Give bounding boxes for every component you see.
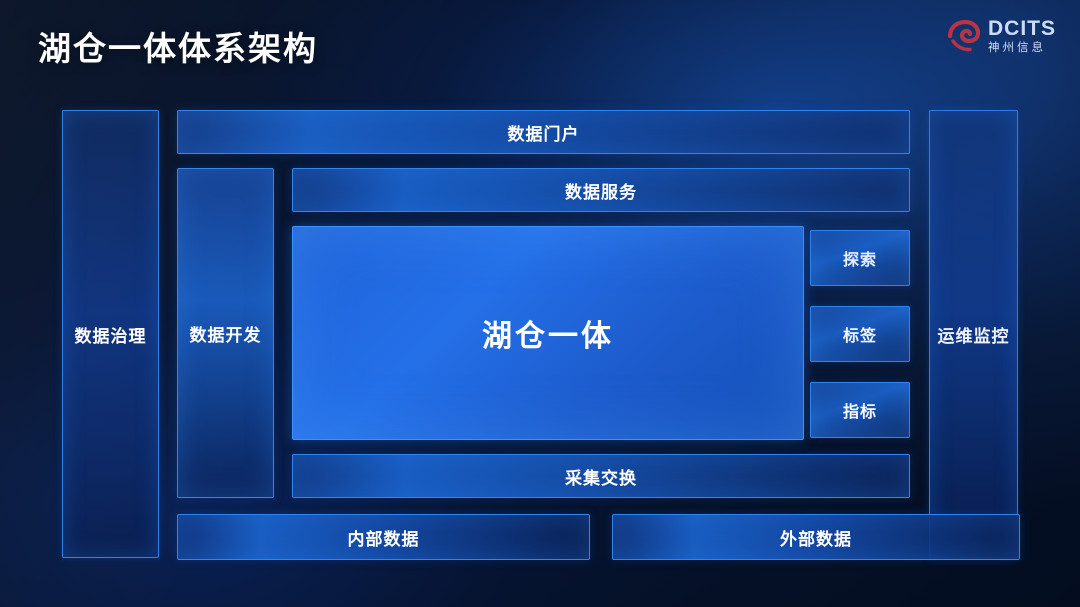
block-data-development[interactable]: 数据开发 [177, 168, 274, 498]
slide-canvas: 湖仓一体体系架构 DCITS 神州信息 数据治理 运维监控 数据门户 数据开发 … [0, 0, 1080, 607]
page-title: 湖仓一体体系架构 [38, 22, 318, 70]
block-internal-data[interactable]: 内部数据 [177, 514, 590, 560]
brand-logo: DCITS 神州信息 [947, 18, 1056, 55]
block-data-portal[interactable]: 数据门户 [177, 110, 910, 154]
block-data-governance[interactable]: 数据治理 [62, 110, 159, 558]
block-external-data[interactable]: 外部数据 [612, 514, 1020, 560]
block-data-service[interactable]: 数据服务 [292, 168, 910, 212]
block-data-service-label: 数据服务 [565, 178, 637, 203]
block-collect-exchange-label: 采集交换 [565, 464, 637, 489]
block-chip-explore[interactable]: 探索 [810, 230, 910, 286]
block-data-development-label: 数据开发 [190, 321, 262, 346]
block-ops-monitoring[interactable]: 运维监控 [929, 110, 1018, 558]
block-external-data-label: 外部数据 [780, 525, 852, 550]
block-data-governance-label: 数据治理 [75, 322, 147, 347]
block-chip-metric-label: 指标 [843, 398, 877, 422]
block-data-portal-label: 数据门户 [508, 120, 580, 145]
logo-cn-text: 神州信息 [988, 43, 1046, 55]
block-collect-exchange[interactable]: 采集交换 [292, 454, 910, 498]
block-chip-tag-label: 标签 [843, 322, 877, 346]
block-ops-monitoring-label: 运维监控 [938, 322, 1010, 347]
block-chip-metric[interactable]: 指标 [810, 382, 910, 438]
logo-en-text: DCITS [988, 18, 1056, 39]
block-lakehouse-label: 湖仓一体 [482, 311, 614, 355]
block-internal-data-label: 内部数据 [348, 525, 420, 550]
block-chip-explore-label: 探索 [843, 246, 877, 270]
block-lakehouse[interactable]: 湖仓一体 [292, 226, 804, 440]
logo-wordmark: DCITS 神州信息 [988, 18, 1056, 55]
dcits-swoosh-icon [947, 19, 981, 53]
block-chip-tag[interactable]: 标签 [810, 306, 910, 362]
